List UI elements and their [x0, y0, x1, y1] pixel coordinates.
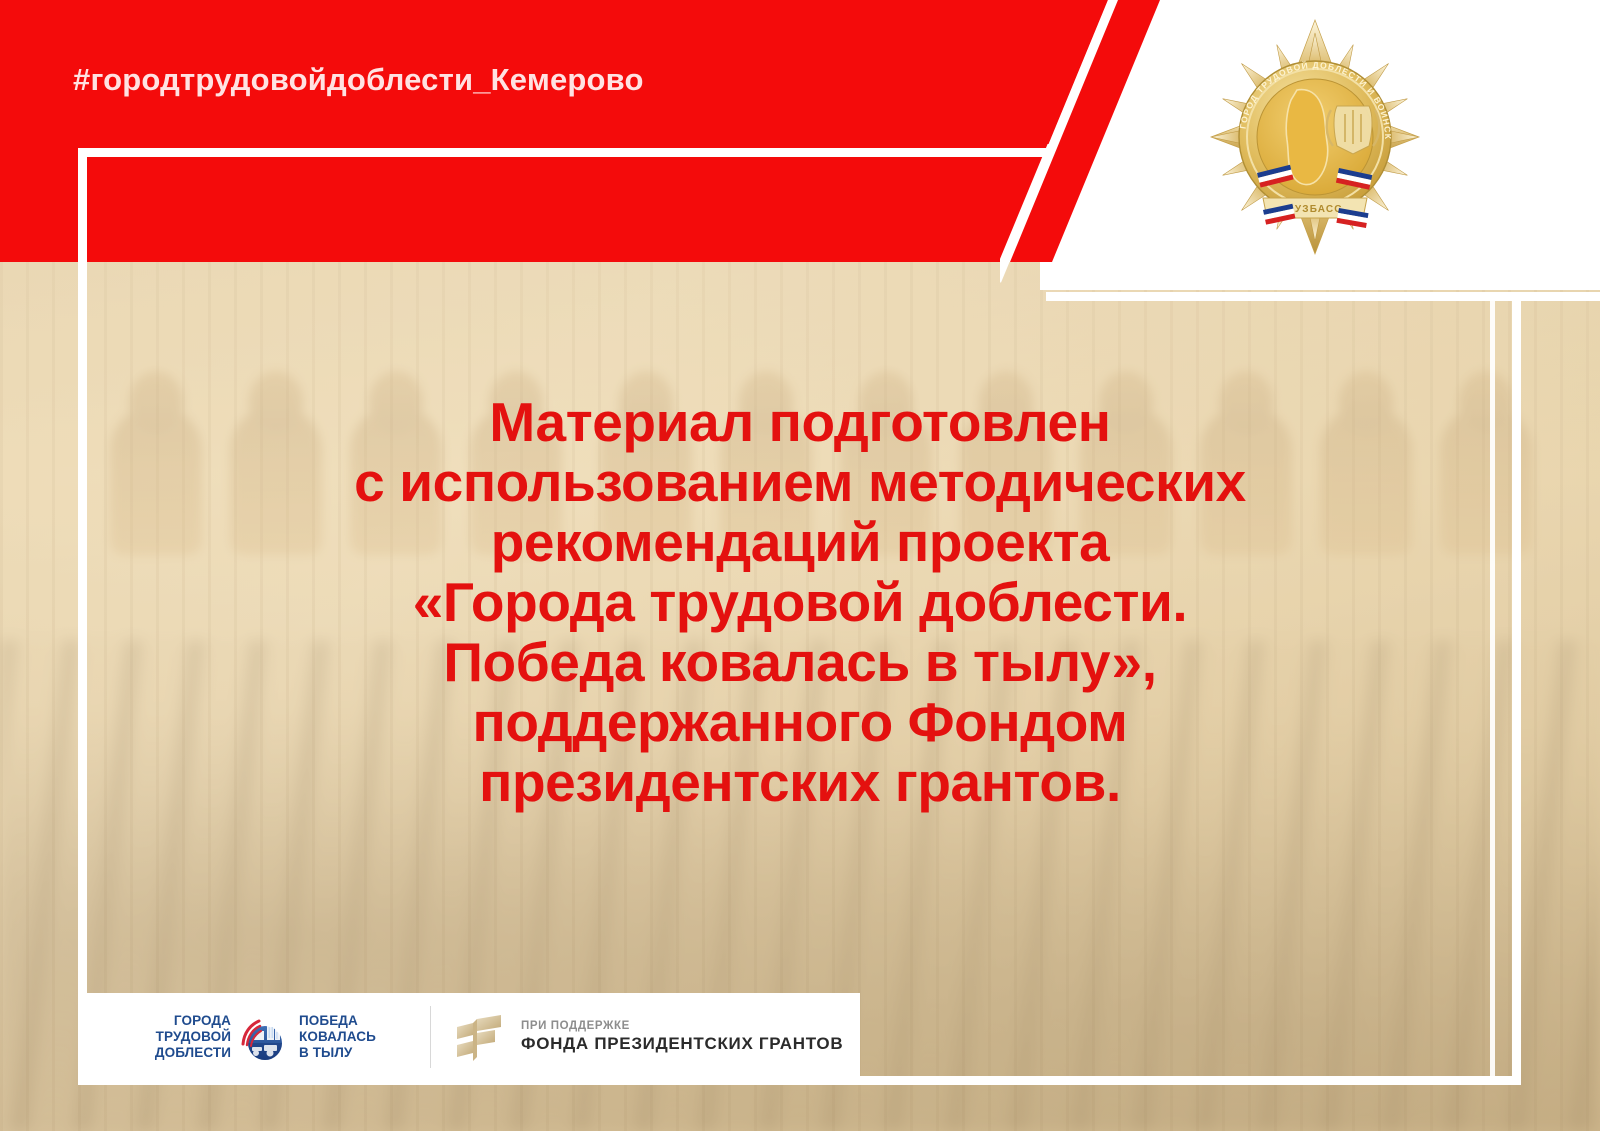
logo-left-caption-right: ПОБЕДА КОВАЛАСЬ В ТЫЛУ	[299, 1013, 420, 1061]
fond-prezidentskih-grantov-mark-icon	[455, 1013, 507, 1061]
headline-line-6: поддержанного Фондом	[95, 692, 1505, 752]
frame-border-top	[78, 148, 1053, 157]
frame-border-right	[1512, 292, 1521, 1085]
headline-line-1: Материал подготовлен	[95, 392, 1505, 452]
fond-logo-text: ПРИ ПОДДЕРЖКЕ ФОНДА ПРЕЗИДЕНТСКИХ ГРАНТО…	[521, 1020, 843, 1054]
logo-goroda-trudovoy-doblesti: ГОРОДА ТРУДОВОЙ ДОБЛЕСТИ	[85, 1011, 420, 1063]
hashtag-label: #городтрудовойдоблести_Кемерово	[73, 62, 644, 98]
frame-accent-horizontal-line	[1521, 292, 1600, 301]
logo-left-caption-right-line2: В ТЫЛУ	[299, 1045, 420, 1061]
headline-line-4: «Города трудовой доблести.	[95, 572, 1505, 632]
logo-left-caption-line1: ГОРОДА ТРУДОВОЙ	[101, 1013, 231, 1045]
frame-border-left	[78, 148, 87, 1085]
logo-left-caption-right-line1: ПОБЕДА КОВАЛАСЬ	[299, 1013, 420, 1045]
frame-border-diagonal	[1000, 144, 1130, 304]
headline-line-5: Победа ковалась в тылу»,	[95, 632, 1505, 692]
fond-logo-big-line: ФОНДА ПРЕЗИДЕНТСКИХ ГРАНТОВ	[521, 1034, 843, 1054]
headline-line-2: с использованием методических	[95, 452, 1505, 512]
main-headline: Материал подготовлен с использованием ме…	[95, 392, 1505, 812]
fond-logo-small-line: ПРИ ПОДДЕРЖКЕ	[521, 1020, 843, 1032]
globe-industry-icon	[239, 1011, 291, 1063]
slide-root: #городтрудовойдоблести_Кемерово	[0, 0, 1600, 1131]
city-of-labor-valor-emblem-icon: ГОРОД ТРУДОВОЙ ДОБЛЕСТИ И ВОИНСКОЙ СЛАВЫ	[1205, 18, 1425, 256]
logo-fond-prezidentskih-grantov: ПРИ ПОДДЕРЖКЕ ФОНДА ПРЕЗИДЕНТСКИХ ГРАНТО…	[441, 1013, 843, 1061]
sponsor-logo-bar: ГОРОДА ТРУДОВОЙ ДОБЛЕСТИ	[85, 993, 860, 1081]
logo-divider	[430, 1006, 431, 1068]
header-red-band	[0, 0, 1160, 262]
logo-left-caption-line2: ДОБЛЕСТИ	[101, 1045, 231, 1061]
svg-text:КУЗБАСС: КУЗБАСС	[1287, 204, 1342, 215]
headline-line-3: рекомендаций проекта	[95, 512, 1505, 572]
logo-left-caption: ГОРОДА ТРУДОВОЙ ДОБЛЕСТИ	[101, 1013, 231, 1061]
headline-line-7: президентских грантов.	[95, 752, 1505, 812]
